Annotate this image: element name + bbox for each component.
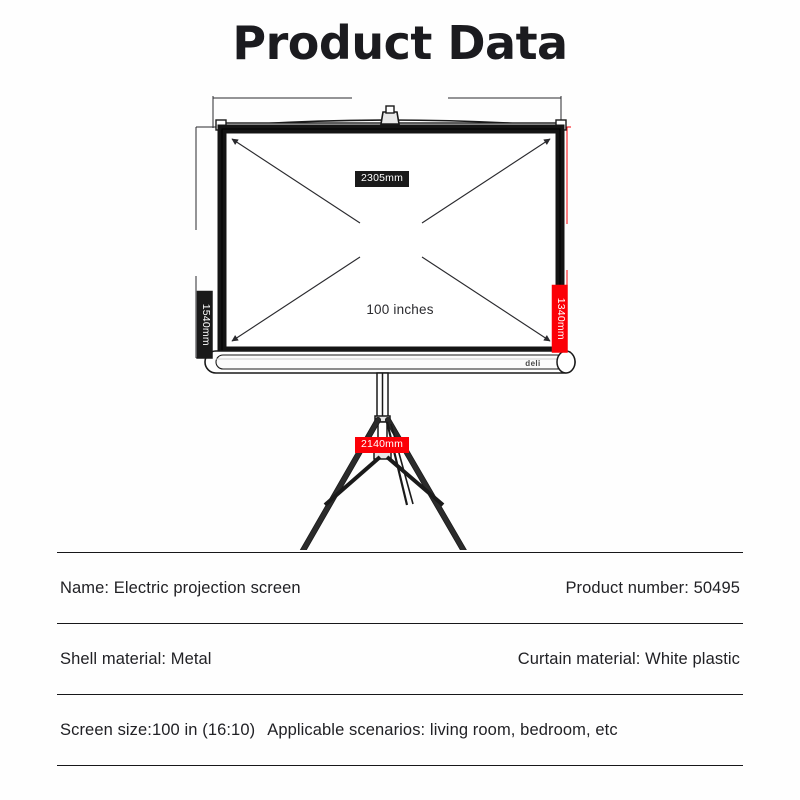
screen-size-text: 100 inches — [359, 302, 440, 317]
spec-product-number: Product number: 50495 — [565, 579, 740, 598]
screen-size-label: 100 inches — [0, 302, 800, 317]
dimension-label-top-width: 2305mm — [355, 171, 409, 187]
spec-row-materials: Shell material: Metal Curtain material: … — [57, 624, 743, 694]
spec-shell-material: Shell material: Metal — [60, 650, 212, 669]
spec-divider — [57, 765, 743, 766]
spec-name-label: Name: Electric projection screen — [60, 579, 301, 598]
spec-table: Name: Electric projection screen Product… — [57, 552, 743, 766]
spec-screen-size: Screen size:100 in (16:10) — [60, 721, 255, 740]
dimension-label-left-height: 1540mm — [197, 291, 213, 359]
tripod-stand — [268, 373, 499, 550]
dimension-label-bottom-width: 2140mm — [355, 437, 409, 453]
screen-bottom-roller — [205, 351, 575, 373]
product-diagram: deli — [0, 80, 800, 550]
product-data-page: Product Data — [0, 0, 800, 800]
page-title: Product Data — [0, 16, 800, 70]
brand-logo: deli — [525, 359, 540, 368]
dimension-label-right-height: 1340mm — [552, 285, 568, 353]
top-center-hook-icon — [381, 106, 399, 124]
spec-row-size-scenarios: Screen size:100 in (16:10) Applicable sc… — [57, 695, 743, 765]
spec-curtain-material: Curtain material: White plastic — [518, 650, 740, 669]
screen-frame — [222, 129, 560, 351]
spec-row-name: Name: Electric projection screen Product… — [57, 553, 743, 623]
spec-scenarios: Applicable scenarios: living room, bedro… — [267, 721, 617, 740]
